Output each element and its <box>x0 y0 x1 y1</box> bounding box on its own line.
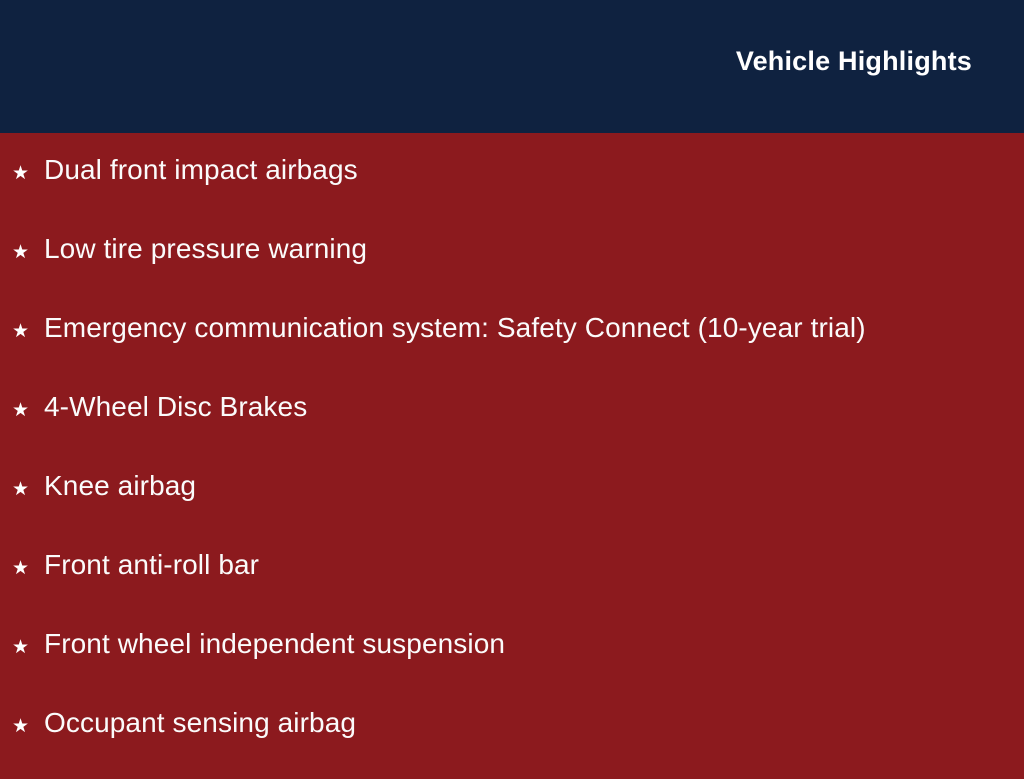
list-item: ★ Knee airbag <box>12 463 1004 542</box>
list-item: ★ Low tire pressure warning <box>12 226 1004 305</box>
star-icon: ★ <box>12 151 44 196</box>
list-item-label: Front anti-roll bar <box>44 542 259 587</box>
star-icon: ★ <box>12 230 44 275</box>
list-item: ★ Front wheel independent suspension <box>12 621 1004 700</box>
star-icon: ★ <box>12 704 44 749</box>
list-item: ★ Front anti-roll bar <box>12 542 1004 621</box>
vehicle-highlights-slide: Vehicle Highlights ★ Dual front impact a… <box>0 0 1024 768</box>
star-icon: ★ <box>12 388 44 433</box>
list-item: ★ Dual front impact airbags <box>12 147 1004 226</box>
star-icon: ★ <box>12 467 44 512</box>
list-item-label: 4-Wheel Disc Brakes <box>44 384 307 429</box>
slide-header-bar: Vehicle Highlights <box>0 0 1024 133</box>
list-item-label: Low tire pressure warning <box>44 226 367 271</box>
page-title: Vehicle Highlights <box>736 47 972 77</box>
star-icon: ★ <box>12 625 44 670</box>
list-item-label: Occupant sensing airbag <box>44 700 356 745</box>
vehicle-highlights-list: ★ Dual front impact airbags ★ Low tire p… <box>12 147 1004 779</box>
list-item-label: Knee airbag <box>44 463 196 508</box>
list-item-label: Front wheel independent suspension <box>44 621 505 666</box>
list-item-label: Emergency communication system: Safety C… <box>44 305 866 350</box>
list-item-label: Dual front impact airbags <box>44 147 358 192</box>
star-icon: ★ <box>12 309 44 354</box>
star-icon: ★ <box>12 546 44 591</box>
list-item: ★ 4-Wheel Disc Brakes <box>12 384 1004 463</box>
list-item: ★ Occupant sensing airbag <box>12 700 1004 779</box>
list-item: ★ Emergency communication system: Safety… <box>12 305 1004 384</box>
